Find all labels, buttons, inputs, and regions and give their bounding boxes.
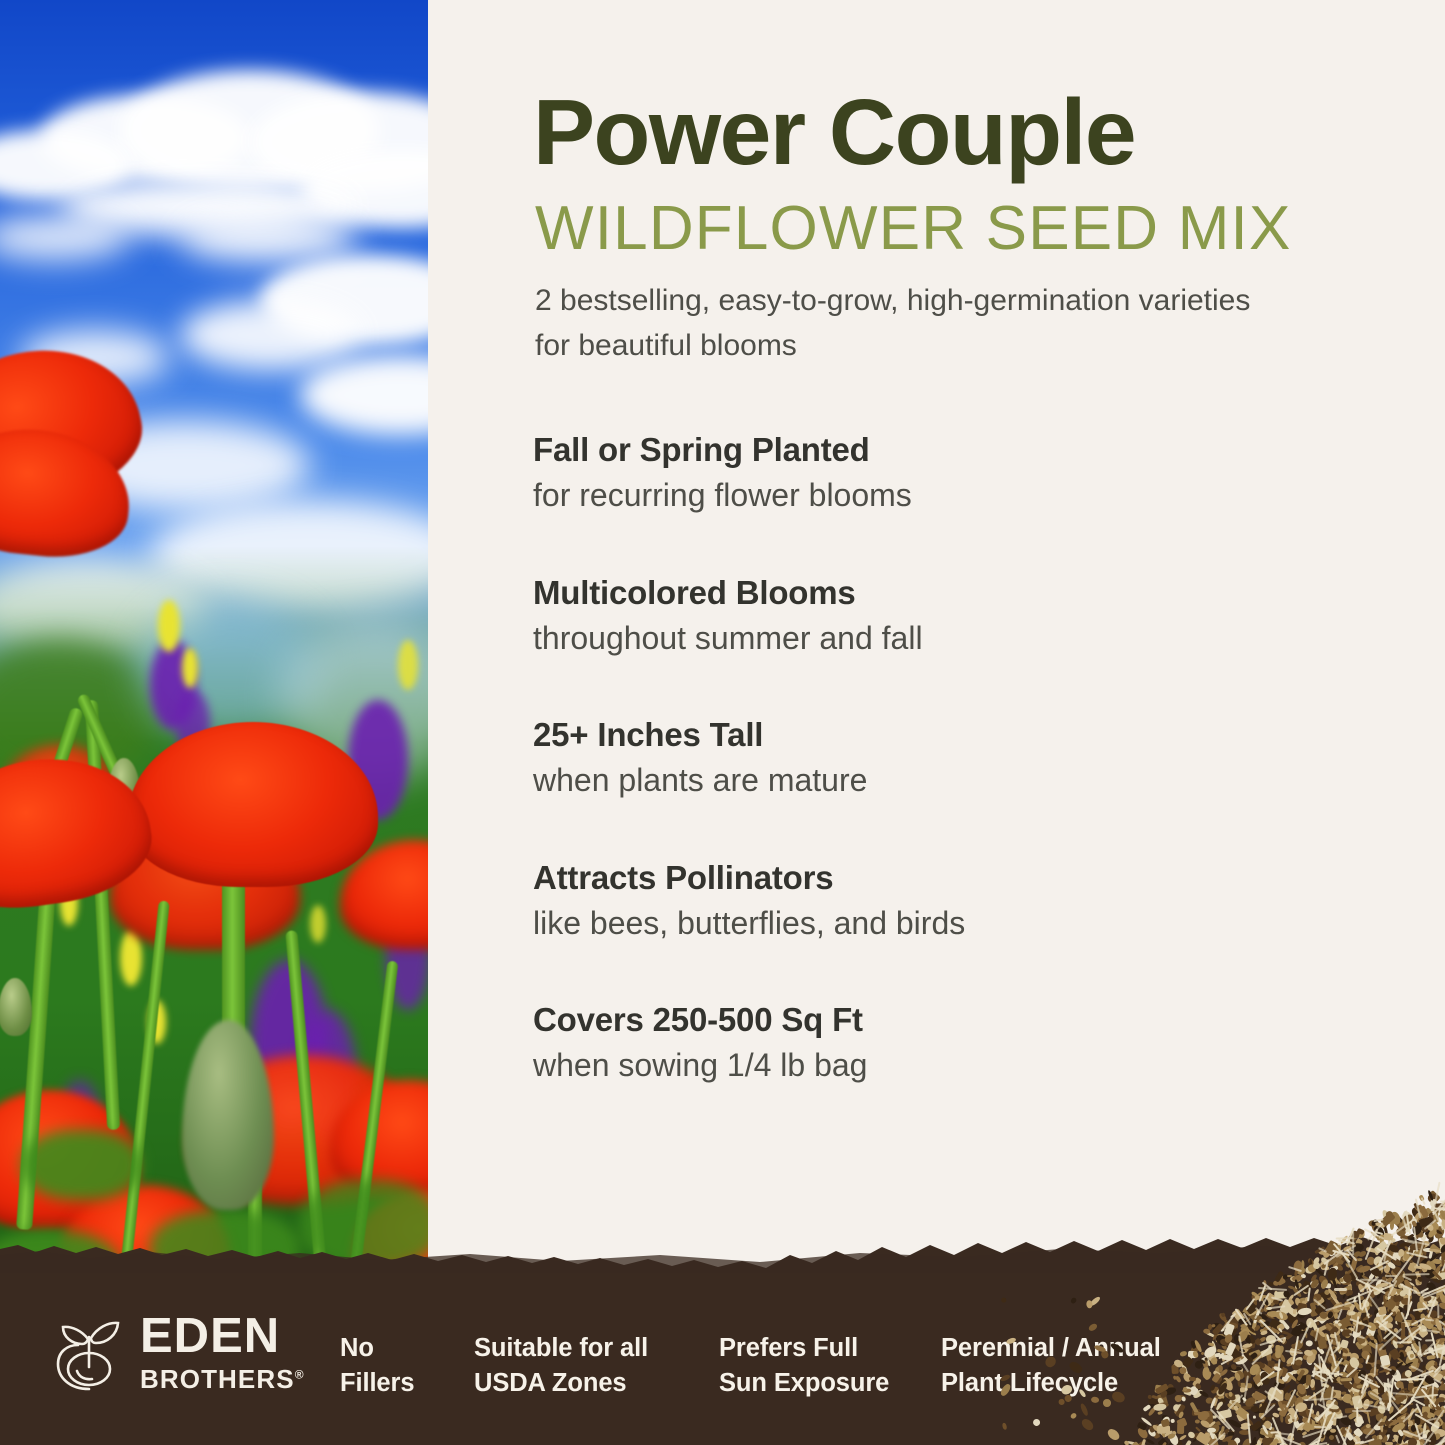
- badge-line-2: USDA Zones: [474, 1366, 648, 1401]
- feature-item: Attracts Pollinators like bees, butterfl…: [533, 858, 1293, 943]
- brand-wordmark: EDEN BROTHERS®: [140, 1312, 305, 1392]
- footer-badge-usda-zones: Suitable for all USDA Zones: [474, 1331, 648, 1401]
- feature-item: Covers 250-500 Sq Ft when sowing 1/4 lb …: [533, 1000, 1293, 1085]
- feature-heading: Fall or Spring Planted: [533, 430, 1293, 470]
- brand-subname: BROTHERS®: [140, 1366, 305, 1392]
- badge-line-2: Fillers: [340, 1366, 414, 1401]
- trademark-symbol: ®: [295, 1367, 305, 1381]
- page-title: Power Couple: [533, 86, 1135, 179]
- badge-line-2: Sun Exposure: [719, 1366, 889, 1401]
- feature-detail: when sowing 1/4 lb bag: [533, 1045, 1293, 1085]
- feature-heading: Multicolored Blooms: [533, 573, 1293, 613]
- seed-pile: [1115, 1175, 1445, 1445]
- cloud: [180, 215, 360, 263]
- seedling-sprout-icon: [52, 1311, 126, 1393]
- feature-detail: throughout summer and fall: [533, 618, 1293, 658]
- product-tagline: 2 bestselling, easy-to-grow, high-germin…: [535, 278, 1275, 368]
- poppy-flower: [0, 420, 136, 564]
- brand-subname-text: BROTHERS: [140, 1364, 295, 1394]
- product-infographic: Power Couple WILDFLOWER SEED MIX 2 bests…: [0, 0, 1445, 1445]
- badge-line-1: No: [340, 1331, 414, 1366]
- feature-item: Fall or Spring Planted for recurring flo…: [533, 430, 1293, 515]
- footer-badge-no-fillers: No Fillers: [340, 1331, 414, 1401]
- badge-line-1: Suitable for all: [474, 1331, 648, 1366]
- brand-name: EDEN: [140, 1312, 305, 1361]
- cloud: [180, 300, 360, 370]
- feature-detail: for recurring flower blooms: [533, 475, 1293, 515]
- poppy-flower-hero: [128, 722, 378, 887]
- feature-item: Multicolored Blooms throughout summer an…: [533, 573, 1293, 658]
- feature-item: 25+ Inches Tall when plants are mature: [533, 715, 1293, 800]
- feature-detail: like bees, butterflies, and birds: [533, 903, 1293, 943]
- feature-detail: when plants are mature: [533, 760, 1293, 800]
- feature-heading: Attracts Pollinators: [533, 858, 1293, 898]
- badge-line-1: Prefers Full: [719, 1331, 889, 1366]
- product-subtitle: WILDFLOWER SEED MIX: [535, 198, 1292, 260]
- product-photo: [0, 0, 428, 1300]
- feature-heading: Covers 250-500 Sq Ft: [533, 1000, 1293, 1040]
- feature-heading: 25+ Inches Tall: [533, 715, 1293, 755]
- brand-logo: EDEN BROTHERS®: [52, 1311, 305, 1393]
- footer-badge-sun-exposure: Prefers Full Sun Exposure: [719, 1331, 889, 1401]
